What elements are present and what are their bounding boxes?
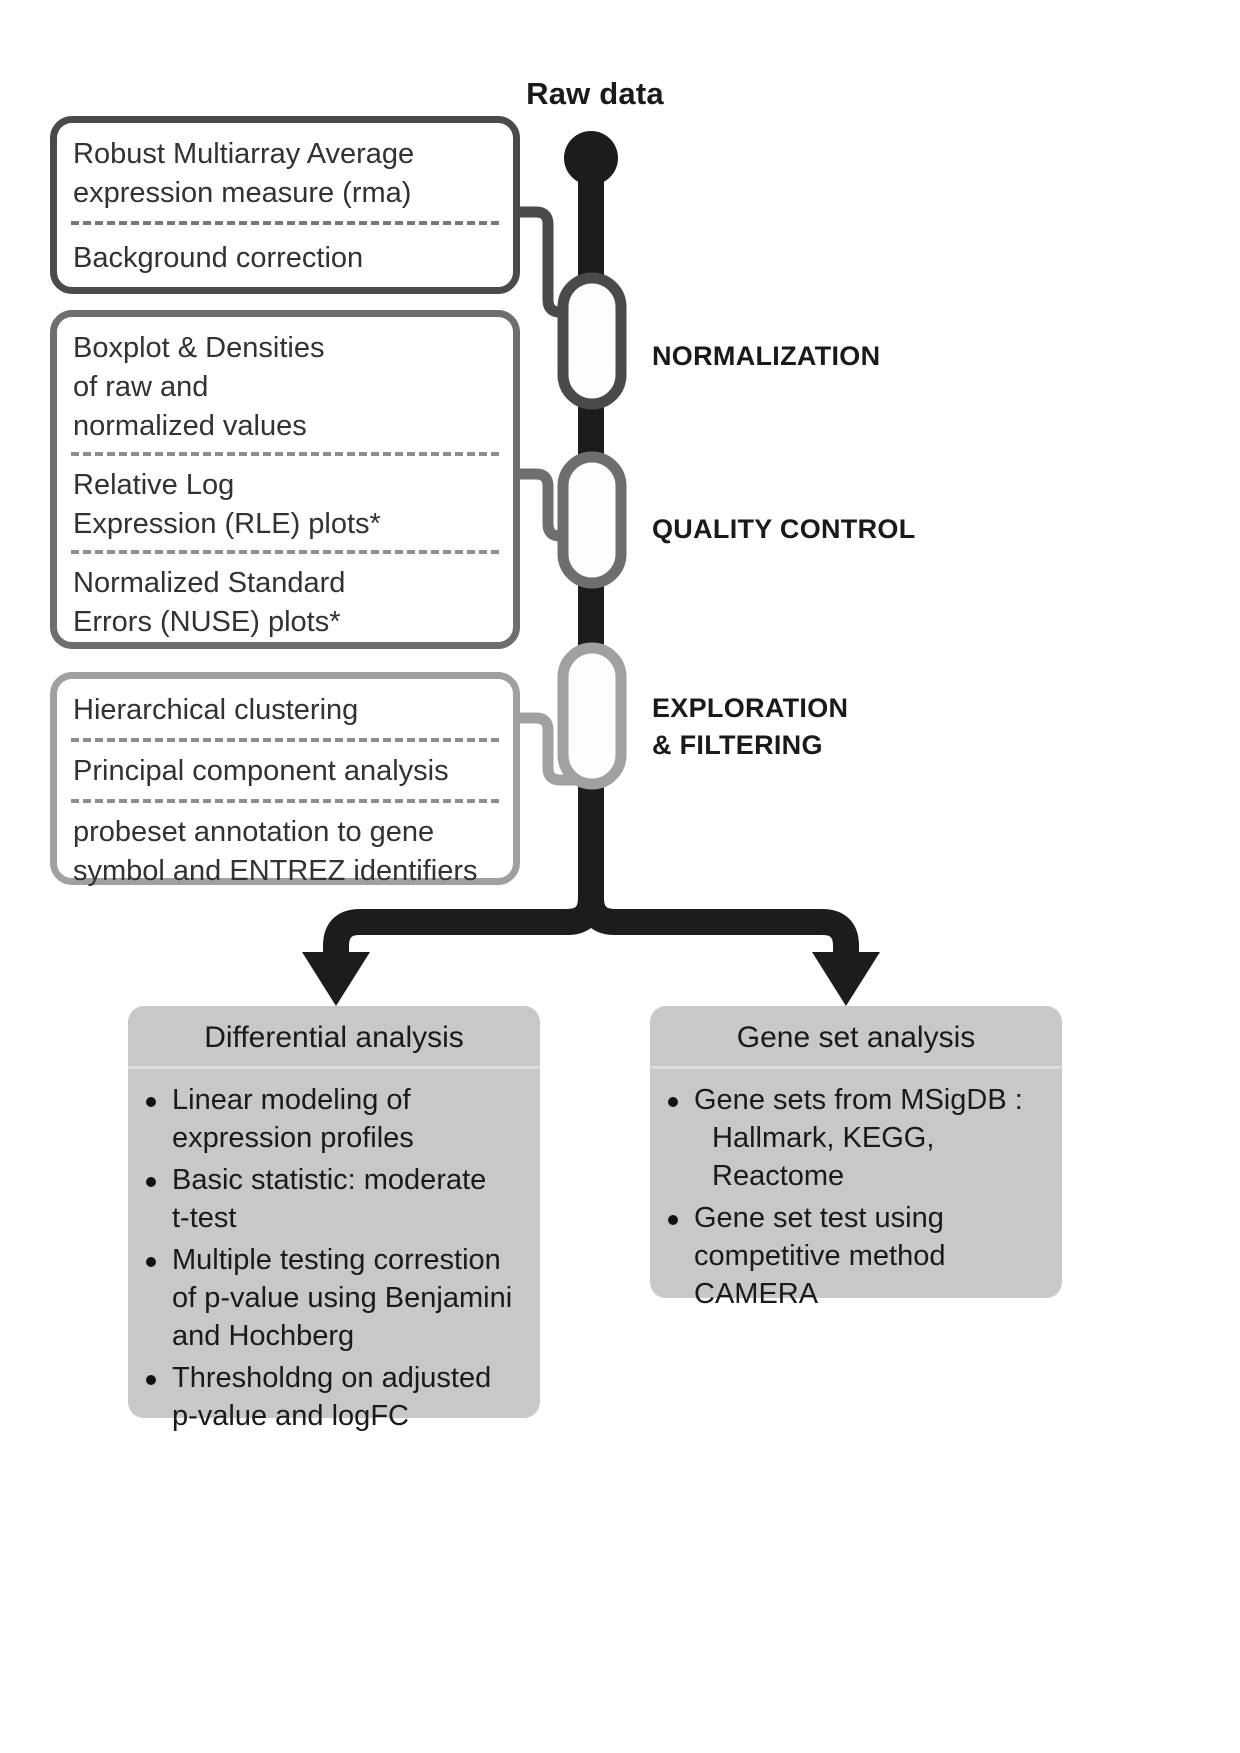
stage-row-line: Errors (NUSE) plots*: [73, 603, 497, 642]
stage-capsule-exploration: [563, 648, 621, 784]
stage-row-line: Relative Log: [73, 466, 497, 505]
stage-box-exploration-filtering[interactable]: Hierarchical clustering Principal compon…: [50, 672, 520, 885]
stage-row: Principal component analysis: [57, 742, 513, 799]
stage-row: Hierarchical clustering: [57, 679, 513, 738]
list-item-line: competitive method: [694, 1237, 1048, 1275]
list-item: Gene set test using competitive method C…: [664, 1199, 1048, 1313]
arrowhead-differential: [302, 952, 370, 1006]
spine-mid-segment-2: [578, 578, 604, 652]
spine-top-segment: [578, 160, 604, 296]
stage-row-line: Normalized Standard: [73, 564, 497, 603]
bullet-icon: [146, 1375, 156, 1385]
stage-row: Boxplot & Densities of raw and normalize…: [57, 317, 513, 452]
stage-row-line: of raw and: [73, 368, 497, 407]
stage-rows-normalization: Robust Multiarray Average expression mea…: [57, 123, 513, 288]
spine-bottom-segment: [578, 778, 604, 912]
stage-label-line: & FILTERING: [652, 727, 848, 764]
list-item-line: of p-value using Benjamini: [172, 1279, 526, 1317]
list-item: Thresholdng on adjusted p-value and logF…: [142, 1359, 526, 1435]
list-item-line: CAMERA: [694, 1275, 1048, 1313]
list-item-line: and Hochberg: [172, 1317, 526, 1355]
stage-label-line: EXPLORATION: [652, 690, 848, 727]
panel-title: Gene set analysis: [650, 1006, 1062, 1069]
arrowhead-gene-set: [812, 952, 880, 1006]
stage-row-line: Background correction: [73, 239, 497, 278]
list-item-line: expression profiles: [172, 1119, 526, 1157]
stage-box-quality-control[interactable]: Boxplot & Densities of raw and normalize…: [50, 310, 520, 649]
connector-quality-control: [516, 474, 578, 536]
diagram-canvas: Raw data Robust Multiarray Average expre…: [0, 0, 1240, 1753]
stage-rows-quality-control: Boxplot & Densities of raw and normalize…: [57, 317, 513, 648]
stage-row-line: Principal component analysis: [73, 752, 497, 791]
list-item: Multiple testing correstion of p-value u…: [142, 1241, 526, 1355]
bullet-icon: [146, 1257, 156, 1267]
stage-row: Background correction: [57, 225, 513, 288]
panel-item-list: Linear modeling of expression profiles B…: [128, 1069, 540, 1457]
list-item-line: Multiple testing correstion: [172, 1241, 526, 1279]
bullet-icon: [668, 1215, 678, 1225]
stage-capsule-normalization: [563, 278, 621, 404]
spine-mid-segment-1: [578, 392, 604, 470]
stage-row-line: probeset annotation to gene: [73, 813, 503, 852]
branch-left-path: [336, 898, 591, 966]
stage-row-line: Robust Multiarray Average: [73, 135, 497, 174]
connector-normalization: [516, 212, 578, 312]
branch-fork: [336, 898, 846, 966]
stage-row-line: Boxplot & Densities: [73, 329, 497, 368]
stage-label-exploration-filtering: EXPLORATION & FILTERING: [652, 690, 848, 764]
stage-row: Normalized Standard Errors (NUSE) plots*: [57, 554, 513, 648]
panel-differential-analysis[interactable]: Differential analysis Linear modeling of…: [128, 1006, 540, 1418]
panel-item-list: Gene sets from MSigDB : Hallmark, KEGG, …: [650, 1069, 1062, 1335]
list-item-line: Basic statistic: moderate: [172, 1161, 526, 1199]
list-item: Linear modeling of expression profiles: [142, 1081, 526, 1157]
bullet-icon: [146, 1177, 156, 1187]
panel-gene-set-analysis[interactable]: Gene set analysis Gene sets from MSigDB …: [650, 1006, 1062, 1298]
stage-label-normalization: NORMALIZATION: [652, 338, 880, 375]
spine-segments: [578, 160, 604, 912]
stage-label-line: NORMALIZATION: [652, 341, 880, 371]
raw-data-node: [564, 131, 618, 185]
stage-box-normalization[interactable]: Robust Multiarray Average expression mea…: [50, 116, 520, 294]
stage-row-line: Hierarchical clustering: [73, 691, 497, 730]
list-item-line: Reactome: [694, 1157, 1048, 1195]
raw-data-title: Raw data: [430, 76, 760, 112]
bullet-icon: [146, 1097, 156, 1107]
list-item: Gene sets from MSigDB : Hallmark, KEGG, …: [664, 1081, 1048, 1195]
stage-row: Robust Multiarray Average expression mea…: [57, 123, 513, 221]
panel-title: Differential analysis: [128, 1006, 540, 1069]
stage-label-quality-control: QUALITY CONTROL: [652, 511, 916, 548]
list-item-line: Gene sets from MSigDB :: [694, 1081, 1048, 1119]
branch-right-path: [591, 898, 846, 966]
list-item-line: t-test: [172, 1199, 526, 1237]
stage-row: probeset annotation to gene symbol and E…: [57, 803, 513, 899]
stage-rows-exploration: Hierarchical clustering Principal compon…: [57, 679, 513, 899]
list-item-line: p-value and logFC: [172, 1397, 526, 1435]
stage-row-line: expression measure (rma): [73, 174, 497, 213]
list-item-line: Thresholdng on adjusted: [172, 1359, 526, 1397]
bullet-icon: [668, 1097, 678, 1107]
stage-row-line: normalized values: [73, 407, 497, 446]
stage-capsule-quality-control: [563, 457, 621, 583]
stage-row: Relative Log Expression (RLE) plots*: [57, 456, 513, 550]
stage-label-line: QUALITY CONTROL: [652, 514, 916, 544]
list-item-line: Linear modeling of: [172, 1081, 526, 1119]
list-item-line: Hallmark, KEGG,: [694, 1119, 1048, 1157]
list-item-line: Gene set test using: [694, 1199, 1048, 1237]
stage-row-line: symbol and ENTREZ identifiers: [73, 852, 503, 891]
stage-row-line: Expression (RLE) plots*: [73, 505, 497, 544]
connector-exploration: [516, 718, 578, 780]
list-item: Basic statistic: moderate t-test: [142, 1161, 526, 1237]
